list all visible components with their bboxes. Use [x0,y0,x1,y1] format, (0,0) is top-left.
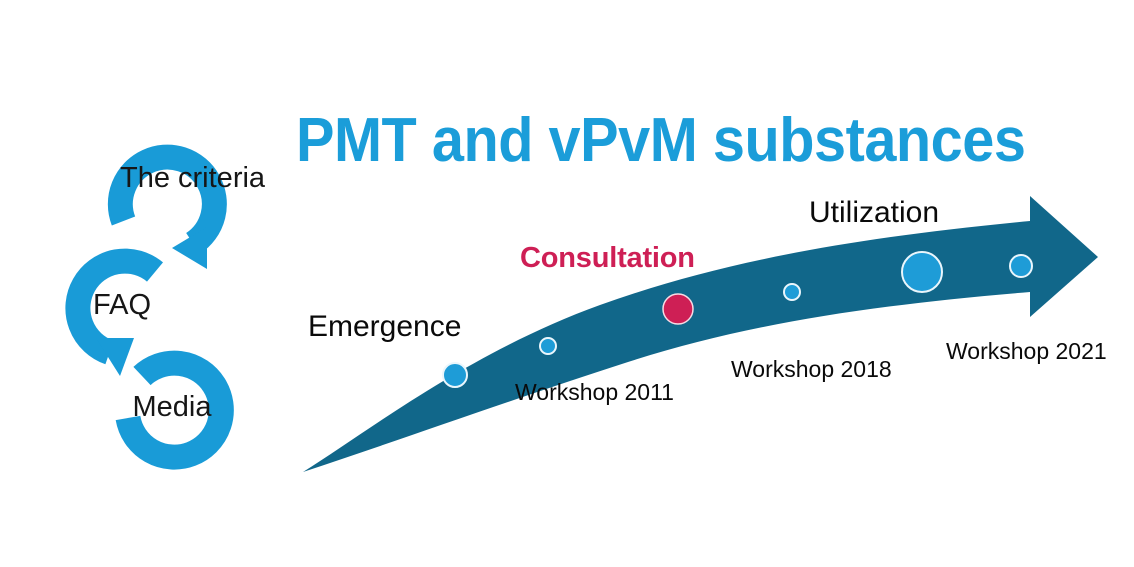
timeline-marker-5[interactable] [1010,255,1032,277]
cycle-step-label-criteria: The criteria [120,163,250,193]
timeline-milestone-label-2011: Workshop 2011 [515,380,674,404]
timeline-milestone-label-2021: Workshop 2021 [946,339,1107,363]
timeline-stage-label-consultation: Consultation [520,243,695,273]
cycle-step-label-faq: FAQ [62,290,182,320]
timeline-marker-consultation[interactable] [663,294,693,324]
timeline-marker-1[interactable] [443,363,467,387]
page-title: PMT and vPvM substances [296,108,1025,173]
cycle-step-label-media: Media [102,392,242,422]
timeline-stage-label-emergence: Emergence [308,311,461,343]
timeline-stage-label-utilization: Utilization [809,197,939,229]
timeline-marker-3[interactable] [784,284,800,300]
artwork-layer [0,0,1134,567]
slide-canvas: PMT and vPvM substances The criteria FAQ… [0,0,1134,567]
timeline-marker-2[interactable] [540,338,556,354]
timeline-marker-4[interactable] [902,252,942,292]
timeline-milestone-label-2018: Workshop 2018 [731,357,892,381]
